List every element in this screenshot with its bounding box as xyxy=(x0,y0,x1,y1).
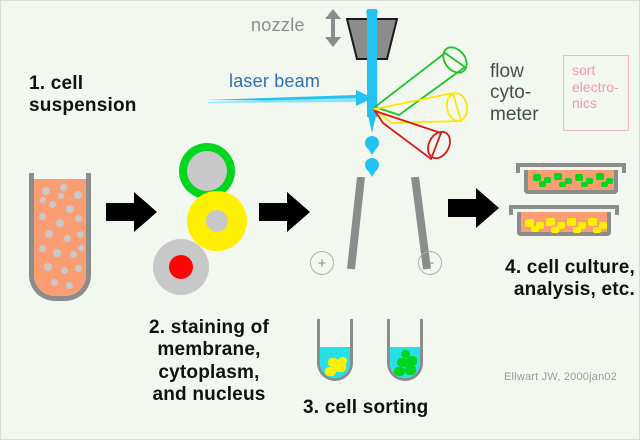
suspension-cell xyxy=(39,213,46,220)
yellow-culture-dish xyxy=(509,205,619,239)
sorted-cell-pellet xyxy=(407,356,417,366)
cultured-cell xyxy=(593,227,601,233)
cultured-cell xyxy=(531,226,539,232)
process-arrow-3 xyxy=(448,187,500,229)
step-4-label: 4. cell culture, analysis, etc. xyxy=(467,257,635,302)
cultured-cell xyxy=(573,227,581,233)
sorted-cell-pellet xyxy=(338,357,347,365)
sort-electronics-box: sort electro- nics xyxy=(563,55,629,131)
dish-body xyxy=(517,212,611,236)
cultured-cell xyxy=(554,173,562,180)
step-1-label: 1. cell suspension xyxy=(29,73,137,118)
suspension-cell xyxy=(39,245,46,252)
suspension-cell xyxy=(64,235,71,242)
suspension-cell xyxy=(53,249,61,257)
nucleus-stained-cell xyxy=(153,239,209,295)
suspension-cell xyxy=(66,282,73,289)
cultured-cell xyxy=(546,218,555,226)
cultured-cell xyxy=(539,181,546,187)
suspension-cell xyxy=(66,205,74,213)
suspension-cell xyxy=(70,251,77,258)
membrane-stained-cell xyxy=(179,143,235,199)
suspension-cell xyxy=(58,193,64,199)
positive-charge-symbol: + xyxy=(310,251,334,275)
cultured-cell xyxy=(559,182,566,187)
negative-charge-symbol: − xyxy=(418,251,442,275)
step-2-label: 2. staining of membrane, cytoplasm, and … xyxy=(109,317,309,407)
flow-cytometry-diagram: 1. cell suspension xyxy=(0,0,640,440)
process-arrow-1 xyxy=(106,191,158,233)
cultured-cell xyxy=(551,227,559,233)
green-culture-dish xyxy=(516,163,626,197)
cultured-cell xyxy=(565,178,572,184)
detector-cones xyxy=(369,45,494,175)
cultured-cell xyxy=(596,173,604,180)
cultured-cell xyxy=(533,174,541,181)
cell-nucleus xyxy=(206,210,228,232)
cytoplasm-stained-cell xyxy=(187,191,247,251)
cell-interior xyxy=(187,151,227,191)
nozzle-label: nozzle xyxy=(251,15,305,36)
step-3-label: 3. cell sorting xyxy=(303,397,428,419)
process-arrow-2 xyxy=(259,191,311,233)
suspension-cell xyxy=(51,279,58,286)
tube-medium xyxy=(34,179,86,296)
suspension-cell xyxy=(75,215,82,222)
suspension-cell xyxy=(75,265,82,272)
dish-body xyxy=(524,170,618,194)
sorted-cell-pellet xyxy=(405,365,416,375)
tube-wall xyxy=(317,319,353,381)
sorted-cell-pellet xyxy=(401,350,410,358)
sorted-cell-pellet xyxy=(328,358,338,367)
positive-collection-tube xyxy=(317,319,353,381)
cultured-cell xyxy=(601,182,608,187)
sorted-cell-pellet xyxy=(394,367,405,376)
suspension-cell xyxy=(77,231,84,238)
tube-wall xyxy=(387,319,423,381)
negative-collection-tube xyxy=(387,319,423,381)
flow-cytometer-label: flow cyto- meter xyxy=(490,61,539,125)
attribution-credit: Ellwart JW, 2000jan02 xyxy=(504,371,617,383)
cell-suspension-tube xyxy=(29,173,91,301)
cell-nucleus xyxy=(169,255,193,279)
suspension-cell xyxy=(44,263,52,271)
positive-plate xyxy=(351,177,361,269)
suspension-cell xyxy=(60,184,67,191)
suspension-cell xyxy=(74,191,82,199)
suspension-cell xyxy=(78,245,84,251)
suspension-cell xyxy=(61,267,68,274)
cultured-cell xyxy=(567,218,576,226)
cultured-cell xyxy=(588,218,597,226)
suspension-cell xyxy=(49,201,56,208)
suspension-cell xyxy=(56,219,64,227)
cultured-cell xyxy=(581,182,588,187)
suspension-cell xyxy=(40,197,46,203)
suspension-cell xyxy=(45,230,53,238)
cultured-cell xyxy=(575,174,583,181)
suspension-cell xyxy=(42,187,50,195)
